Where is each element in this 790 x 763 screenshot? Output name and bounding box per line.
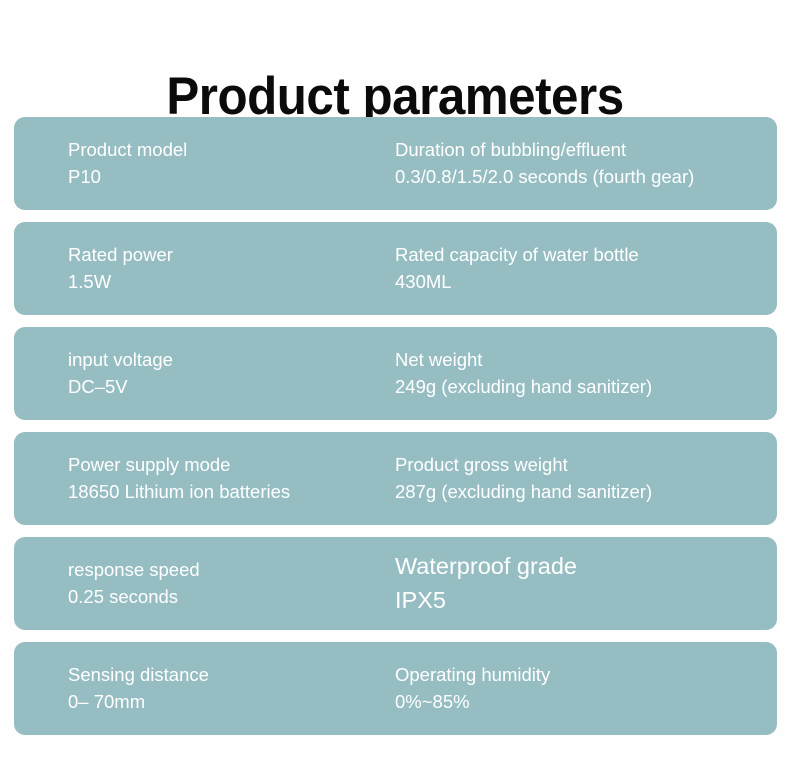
page-title: Product parameters xyxy=(28,69,763,125)
spec-cell-right: Waterproof grade IPX5 xyxy=(395,550,777,617)
spec-value: 287g (excluding hand sanitizer) xyxy=(395,479,777,505)
spec-label: input voltage xyxy=(68,347,395,373)
spec-cell-right: Operating humidity 0%~85% xyxy=(395,662,777,715)
spec-value: 430ML xyxy=(395,269,777,295)
spec-cell-right: Net weight 249g (excluding hand sanitize… xyxy=(395,347,777,400)
spec-label: response speed xyxy=(68,557,395,583)
spec-label: Waterproof grade xyxy=(395,550,777,583)
spec-cell-left: Power supply mode 18650 Lithium ion batt… xyxy=(68,452,395,505)
spec-label: Operating humidity xyxy=(395,662,777,688)
spec-cell-right: Duration of bubbling/effluent 0.3/0.8/1.… xyxy=(395,137,777,190)
spec-label: Rated power xyxy=(68,242,395,268)
spec-cell-left: Rated power 1.5W xyxy=(68,242,395,295)
spec-label: Power supply mode xyxy=(68,452,395,478)
product-parameters-page: Product parameters Product model P10 Dur… xyxy=(0,0,790,763)
spec-cell-left: Product model P10 xyxy=(68,137,395,190)
spec-value: 0.3/0.8/1.5/2.0 seconds (fourth gear) xyxy=(395,164,777,190)
table-row: response speed 0.25 seconds Waterproof g… xyxy=(14,537,777,630)
spec-value: 1.5W xyxy=(68,269,395,295)
spec-label: Duration of bubbling/effluent xyxy=(395,137,777,163)
spec-label: Sensing distance xyxy=(68,662,395,688)
spec-cell-left: response speed 0.25 seconds xyxy=(68,557,395,610)
spec-label: Net weight xyxy=(395,347,777,373)
spec-value: 249g (excluding hand sanitizer) xyxy=(395,374,777,400)
spec-value: IPX5 xyxy=(395,584,777,617)
spec-value: 18650 Lithium ion batteries xyxy=(68,479,395,505)
spec-cell-right: Product gross weight 287g (excluding han… xyxy=(395,452,777,505)
table-row: Product model P10 Duration of bubbling/e… xyxy=(14,117,777,210)
spec-cell-right: Rated capacity of water bottle 430ML xyxy=(395,242,777,295)
table-row: Power supply mode 18650 Lithium ion batt… xyxy=(14,432,777,525)
spec-cell-left: input voltage DC–5V xyxy=(68,347,395,400)
spec-table: Product model P10 Duration of bubbling/e… xyxy=(14,117,777,735)
table-row: Rated power 1.5W Rated capacity of water… xyxy=(14,222,777,315)
spec-cell-left: Sensing distance 0– 70mm xyxy=(68,662,395,715)
table-row: input voltage DC–5V Net weight 249g (exc… xyxy=(14,327,777,420)
spec-label: Product model xyxy=(68,137,395,163)
table-row: Sensing distance 0– 70mm Operating humid… xyxy=(14,642,777,735)
spec-label: Rated capacity of water bottle xyxy=(395,242,777,268)
spec-value: DC–5V xyxy=(68,374,395,400)
spec-label: Product gross weight xyxy=(395,452,777,478)
spec-value: 0– 70mm xyxy=(68,689,395,715)
spec-value: 0.25 seconds xyxy=(68,584,395,610)
spec-value: P10 xyxy=(68,164,395,190)
spec-value: 0%~85% xyxy=(395,689,777,715)
